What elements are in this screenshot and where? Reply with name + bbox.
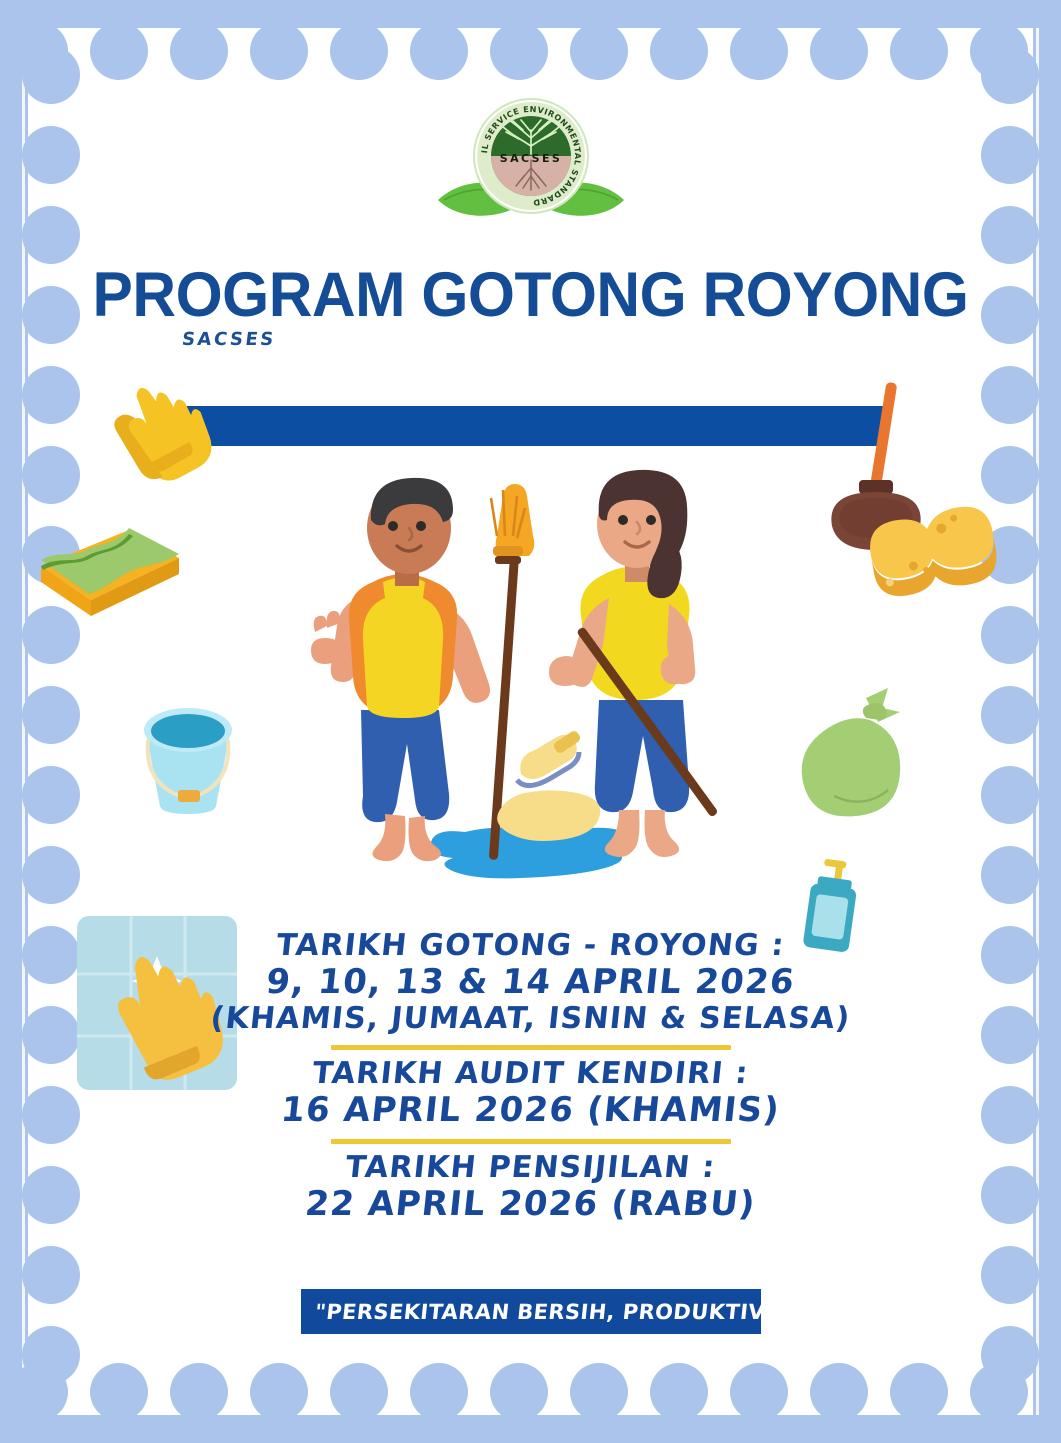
sponge-left-icon	[29, 514, 189, 624]
poster-content: SARAWAK CIVIL SERVICE ENVIRONMENTAL STAN…	[74, 74, 987, 1369]
scallop-edge-left	[28, 28, 74, 1415]
subtitle-tag: SACSES	[181, 329, 277, 350]
date-heading-audit-kendiri: TARIKH AUDIT KENDIRI :	[72, 1057, 989, 1091]
scallop-edge-top	[28, 28, 1033, 74]
date-value-pensijilan: 22 APRIL 2026 (RABU)	[72, 1185, 989, 1224]
logo-center-text: SACSES	[499, 152, 561, 165]
sacses-logo: SARAWAK CIVIL SERVICE ENVIRONMENTAL STAN…	[424, 96, 638, 228]
tagline-text: "PERSEKITARAN BERSIH, PRODUKTIVITI MENIN…	[313, 1300, 760, 1324]
scallop-edge-bottom	[28, 1369, 1033, 1415]
date-heading-pensijilan: TARIKH PENSIJILAN :	[72, 1151, 989, 1185]
poster-root: SARAWAK CIVIL SERVICE ENVIRONMENTAL STAN…	[0, 0, 1061, 1443]
boy-with-broom	[311, 478, 490, 861]
subtitle-bar	[184, 406, 884, 446]
cleaning-illustration	[269, 464, 789, 904]
divider-rule-1	[331, 1045, 731, 1050]
sponge-right-icon	[849, 489, 1009, 614]
garbage-bag-right-icon	[794, 674, 924, 824]
date-value-audit-kendiri: 16 APRIL 2026 (KHAMIS)	[72, 1091, 989, 1130]
divider-rule-2	[331, 1139, 731, 1144]
page-title: PROGRAM GOTONG ROYONG	[92, 259, 968, 331]
date-heading-gotong-royong: TARIKH GOTONG - ROYONG :	[72, 929, 989, 963]
bucket-left-icon	[122, 686, 252, 821]
dates-block: TARIKH GOTONG - ROYONG : 9, 10, 13 & 14 …	[74, 929, 987, 1224]
scallop-edge-right	[987, 28, 1033, 1415]
rubber-gloves-top-left-icon	[94, 364, 214, 484]
tagline-banner: "PERSEKITARAN BERSIH, PRODUKTIVITI MENIN…	[301, 1289, 761, 1334]
date-value-gotong-royong: 9, 10, 13 & 14 APRIL 2026	[72, 963, 989, 1002]
date-note-gotong-royong: (KHAMIS, JUMAAT, ISNIN & SELASA)	[72, 1002, 989, 1036]
tagline-wrapper: "PERSEKITARAN BERSIH, PRODUKTIVITI MENIN…	[74, 1289, 987, 1334]
subtitle-bar-text	[184, 406, 884, 446]
